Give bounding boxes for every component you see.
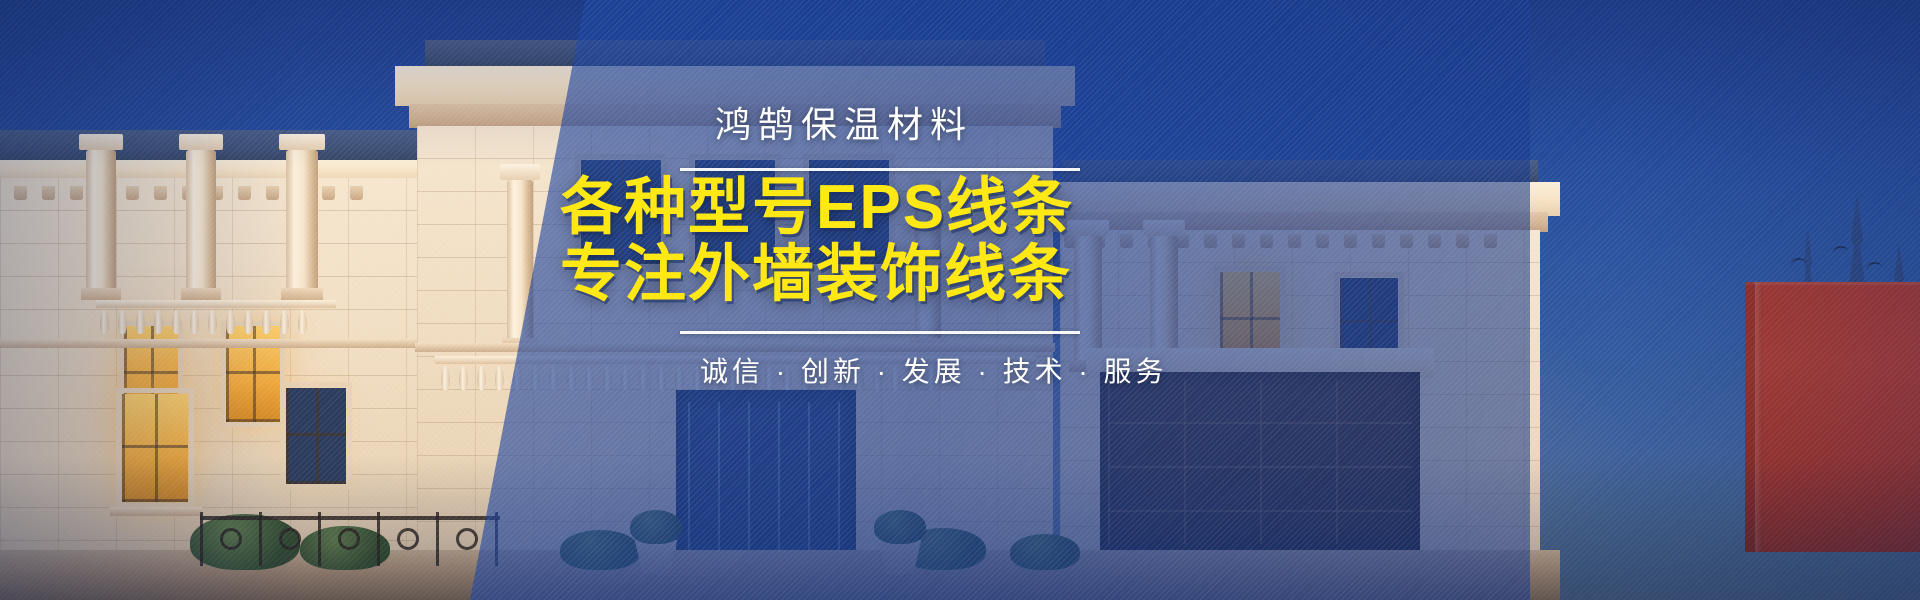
banner-copy-block: 鸿鹄保温材料 各种型号EPS线条 专注外墙装饰线条 诚信 · 创新 · 发展 ·… (560, 96, 1460, 390)
company-name: 鸿鹄保温材料 (715, 96, 1460, 148)
hero-banner: 鸿鹄保温材料 各种型号EPS线条 专注外墙装饰线条 诚信 · 创新 · 发展 ·… (0, 0, 1920, 600)
window-frame (221, 321, 285, 427)
banner-headline: 各种型号EPS线条 专注外墙装饰线条 (560, 175, 1460, 309)
balcony-balustrade (100, 304, 332, 334)
red-building (1745, 282, 1920, 552)
headline-line-1: 各种型号EPS线条 (560, 175, 1460, 242)
string-course (0, 339, 430, 348)
villa-column (286, 150, 318, 300)
window-frame (116, 388, 194, 508)
banner-tagline: 诚信 · 创新 · 发展 · 技术 · 服务 (700, 350, 1460, 390)
headline-line-2: 专注外墙装饰线条 (560, 242, 1460, 309)
divider-top (680, 168, 1080, 171)
villa-column (186, 150, 216, 300)
window-sill (110, 507, 202, 516)
window-frame (280, 382, 352, 490)
roof-eave (0, 130, 450, 164)
iron-railing (200, 512, 500, 566)
divider-bottom (680, 331, 1080, 334)
villa-column (86, 150, 116, 300)
